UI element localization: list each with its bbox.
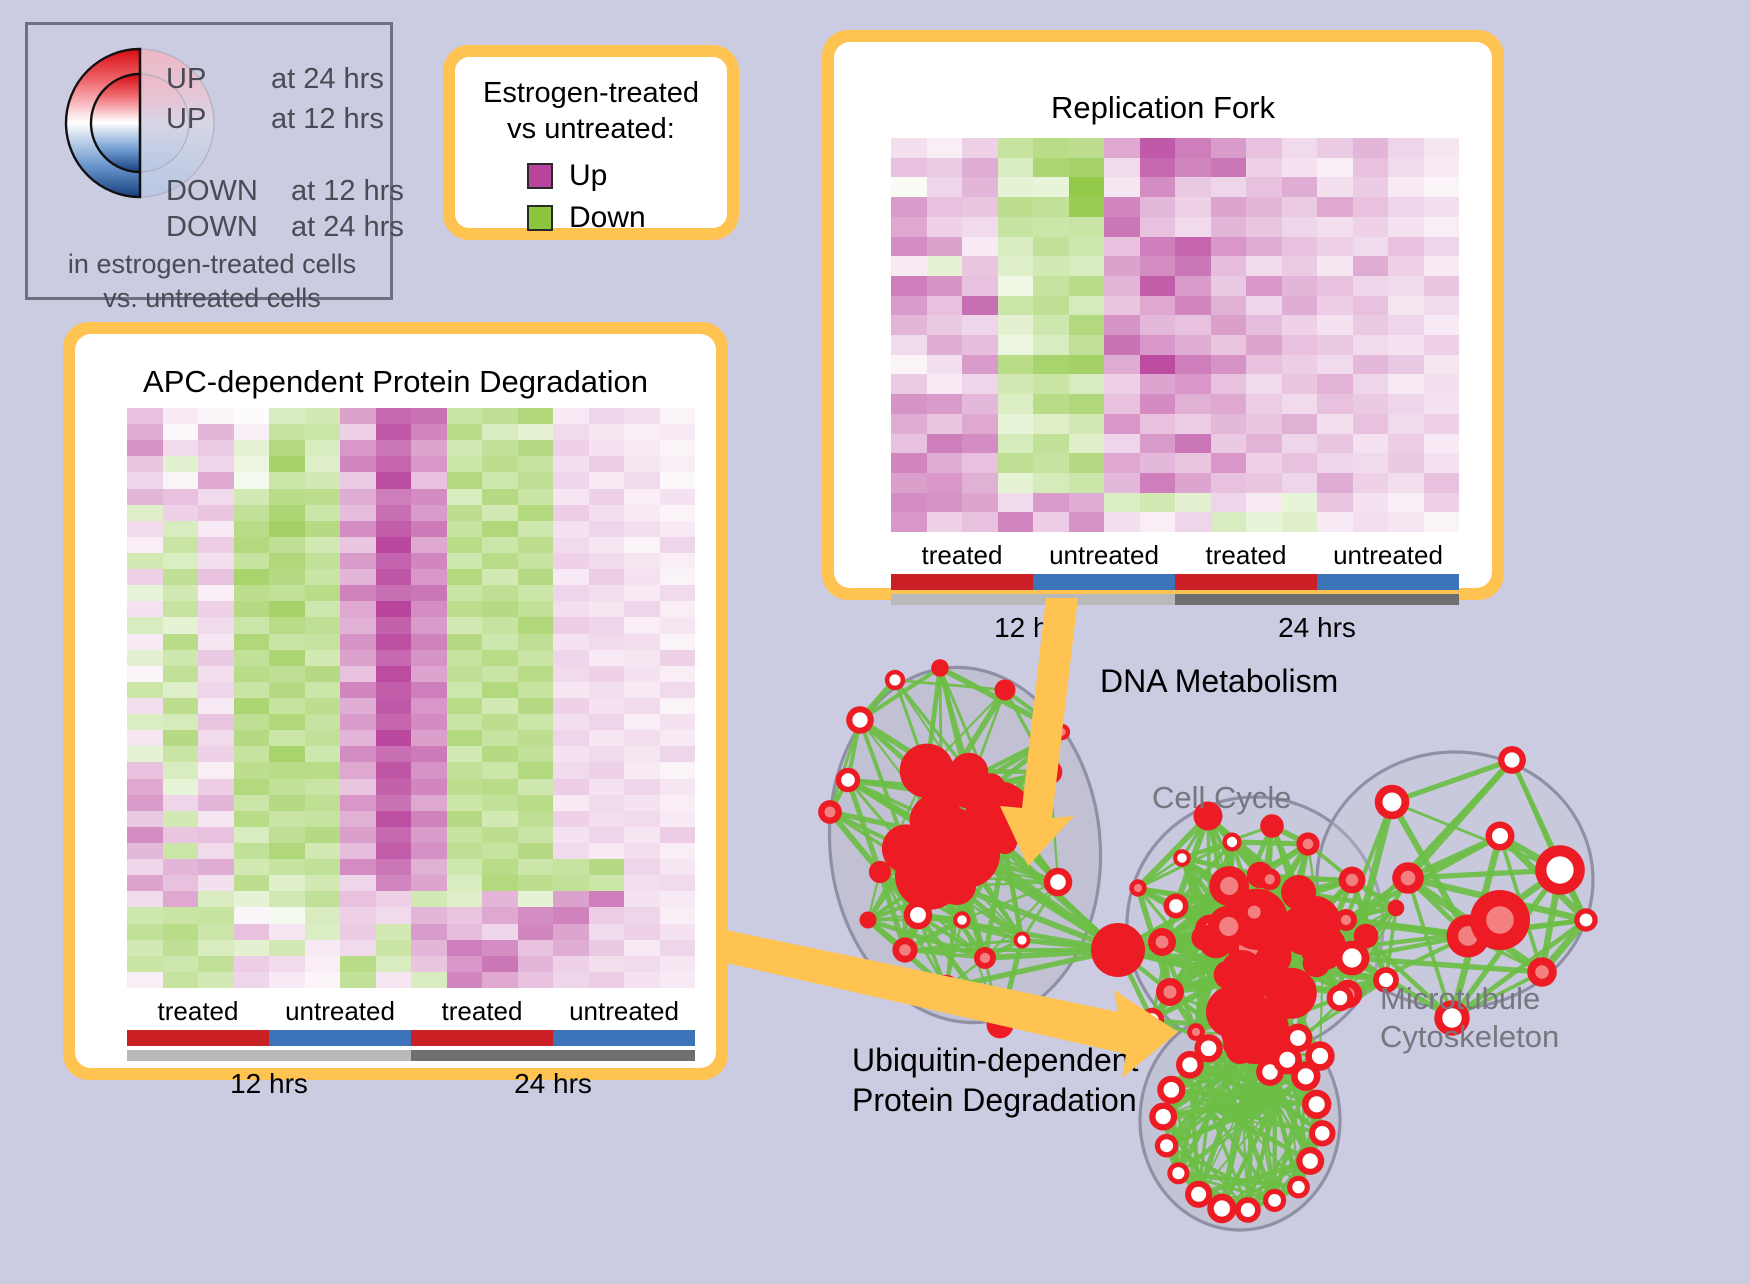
network-node[interactable]	[1287, 896, 1341, 950]
heatmap-cell	[269, 940, 305, 956]
heatmap-cell	[305, 972, 341, 988]
node-inner-fill	[1169, 899, 1183, 913]
heatmap-cell	[891, 315, 927, 335]
apc-heatmap	[127, 408, 695, 988]
heatmap-cell	[1140, 453, 1176, 473]
network-node[interactable]	[895, 841, 963, 909]
network-node[interactable]	[1038, 760, 1063, 785]
heatmap-cell	[927, 335, 963, 355]
heatmap-cell	[891, 296, 927, 316]
heatmap-cell	[998, 256, 1034, 276]
heatmap-cell	[234, 666, 270, 682]
heatmap-cell	[1388, 394, 1424, 414]
heatmap-cell	[962, 158, 998, 178]
heatmap-cell	[1175, 512, 1211, 532]
network-node[interactable]	[1156, 978, 1184, 1006]
heatmap-cell	[376, 762, 412, 778]
heatmap-cell	[482, 505, 518, 521]
node-inner-fill	[1219, 917, 1238, 936]
heatmap-cell	[1317, 217, 1353, 237]
heatmap-cell	[411, 891, 447, 907]
heatmap-cell	[589, 408, 625, 424]
condition-bar	[411, 1030, 553, 1046]
heatmap-cell	[269, 795, 305, 811]
heatmap-cell	[1069, 394, 1105, 414]
network-node[interactable]	[1164, 894, 1189, 919]
heatmap-cell	[589, 714, 625, 730]
network-node[interactable]	[1140, 1008, 1164, 1032]
heatmap-cell	[1175, 158, 1211, 178]
network-node[interactable]	[1486, 822, 1515, 851]
heatmap-cell	[198, 537, 234, 553]
heatmap-cell	[927, 493, 963, 513]
heatmap-cell	[482, 682, 518, 698]
heatmap-cell	[1140, 434, 1176, 454]
heatmap-cell	[1353, 335, 1389, 355]
heatmap-cell	[127, 505, 163, 521]
network-node[interactable]	[846, 706, 874, 734]
heatmap-cell	[1069, 237, 1105, 257]
heatmap-cell	[589, 650, 625, 666]
time-bar	[1175, 594, 1459, 605]
heatmap-cell	[340, 891, 376, 907]
heatmap-cell	[305, 440, 341, 456]
heatmap-cell	[482, 650, 518, 666]
heatmap-cell	[127, 601, 163, 617]
heatmap-cell	[962, 315, 998, 335]
heatmap-cell	[553, 682, 589, 698]
heatmap-cell	[482, 875, 518, 891]
heatmap-cell	[269, 650, 305, 666]
heatmap-cell	[234, 843, 270, 859]
heatmap-cell	[589, 907, 625, 923]
heatmap-cell	[1033, 296, 1069, 316]
network-node[interactable]	[1498, 746, 1526, 774]
time-bar	[127, 1050, 411, 1061]
heatmap-cell	[305, 795, 341, 811]
heatmap-cell	[127, 585, 163, 601]
network-node[interactable]	[1148, 928, 1176, 956]
heatmap-cell	[553, 956, 589, 972]
heatmap-cell	[962, 414, 998, 434]
heatmap-cell	[891, 414, 927, 434]
heatmap-cell	[1069, 158, 1105, 178]
heatmap-cell	[198, 746, 234, 762]
heatmap-cell	[624, 972, 660, 988]
heatmap-cell	[1246, 197, 1282, 217]
heatmap-cell	[305, 924, 341, 940]
heatmap-cell	[198, 779, 234, 795]
heatmap-cell	[1211, 414, 1247, 434]
network-node[interactable]	[1327, 985, 1354, 1012]
network-node[interactable]	[892, 937, 917, 962]
heatmap-cell	[1388, 217, 1424, 237]
heatmap-cell	[482, 940, 518, 956]
network-node[interactable]	[860, 912, 877, 929]
colorwheel-row-2-time: at 12 hrs	[291, 175, 404, 208]
heatmap-cell	[660, 505, 696, 521]
node-inner-fill	[1182, 1057, 1197, 1072]
network-node[interactable]	[1044, 868, 1073, 897]
heatmap-cell	[998, 315, 1034, 335]
heatmap-cell	[1424, 158, 1460, 178]
heatmap-cell	[518, 424, 554, 440]
heatmap-cell	[163, 666, 199, 682]
heatmap-cell	[234, 907, 270, 923]
node-inner-fill	[1164, 986, 1177, 999]
heatmap-cell	[624, 489, 660, 505]
heatmap-cell	[660, 907, 696, 923]
network-node[interactable]	[967, 784, 1024, 841]
heatmap-cell	[340, 859, 376, 875]
heatmap-cell	[1033, 493, 1069, 513]
heatmap-cell	[376, 505, 412, 521]
heatmap-cell	[1140, 512, 1176, 532]
heatmap-cell	[411, 408, 447, 424]
heatmap-cell	[518, 505, 554, 521]
heatmap-cell	[962, 237, 998, 257]
network-node[interactable]	[1335, 941, 1370, 976]
node-inner-fill	[1315, 1126, 1330, 1141]
heatmap-cell	[447, 424, 483, 440]
network-node[interactable]	[1535, 845, 1585, 895]
heatmap-cell	[482, 746, 518, 762]
heatmap-cell	[376, 811, 412, 827]
colorwheel-row-1-direction: UP	[166, 103, 206, 136]
network-node[interactable]	[1235, 1197, 1261, 1223]
heatmap-cell	[1033, 394, 1069, 414]
network-node[interactable]	[1167, 1162, 1189, 1184]
network-node[interactable]	[1214, 961, 1242, 989]
heatmap-cell	[1175, 256, 1211, 276]
heatmap-cell	[447, 682, 483, 698]
heatmap-cell	[376, 795, 412, 811]
heatmap-cell	[891, 217, 927, 237]
heatmap-cell	[447, 956, 483, 972]
colorwheel-row-3-time: at 24 hrs	[291, 211, 404, 244]
node-inner-fill	[1241, 1203, 1255, 1217]
heatmap-cell	[340, 795, 376, 811]
heatmap-cell	[624, 424, 660, 440]
network-node[interactable]	[836, 768, 861, 793]
network-node[interactable]	[995, 680, 1016, 701]
heatmap-cell	[1104, 355, 1140, 375]
heatmap-cell	[1104, 453, 1140, 473]
network-node[interactable]	[900, 744, 954, 798]
heatmap-cell	[1388, 177, 1424, 197]
heatmap-cell	[1033, 473, 1069, 493]
network-node[interactable]	[1339, 867, 1366, 894]
heatmap-cell	[234, 537, 270, 553]
network-node[interactable]	[1194, 1034, 1222, 1062]
heatmap-cell	[518, 843, 554, 859]
heatmap-cell	[624, 843, 660, 859]
heatmap-cell	[376, 779, 412, 795]
heatmap-cell	[1353, 138, 1389, 158]
heatmap-cell	[553, 601, 589, 617]
heatmap-cell	[127, 714, 163, 730]
node-inner-fill	[1312, 1048, 1328, 1064]
heatmap-cell	[1069, 493, 1105, 513]
heatmap-cell	[1104, 256, 1140, 276]
heatmap-cell	[1069, 374, 1105, 394]
heatmap-cell	[198, 875, 234, 891]
heatmap-cell	[234, 859, 270, 875]
heatmap-cell	[1246, 473, 1282, 493]
heatmap-cell	[624, 569, 660, 585]
network-node[interactable]	[1223, 833, 1242, 852]
heatmap-cell	[411, 682, 447, 698]
time-label: 12 hrs	[127, 1068, 411, 1100]
heatmap-cell	[998, 158, 1034, 178]
heatmap-cell	[340, 811, 376, 827]
network-node[interactable]	[1208, 906, 1250, 948]
heatmap-cell	[482, 714, 518, 730]
heatmap-cell	[553, 617, 589, 633]
network-node[interactable]	[1296, 1147, 1324, 1175]
heatmap-cell	[1175, 335, 1211, 355]
heatmap-cell	[376, 682, 412, 698]
node-inner-fill	[1058, 728, 1065, 735]
heatmap-cell	[305, 521, 341, 537]
network-node[interactable]	[933, 975, 960, 1002]
network-node[interactable]	[1388, 900, 1405, 917]
heatmap-cell	[1353, 197, 1389, 217]
network-node[interactable]	[869, 861, 891, 883]
node-outer-ring	[869, 861, 891, 883]
heatmap-cell	[234, 617, 270, 633]
condition-bar	[1033, 574, 1175, 590]
heatmap-cell	[1211, 315, 1247, 335]
heatmap-cell	[1353, 315, 1389, 335]
heatmap-cell	[589, 505, 625, 521]
network-node[interactable]	[1054, 724, 1070, 740]
heatmap-cell	[163, 843, 199, 859]
heatmap-cell	[163, 779, 199, 795]
network-node[interactable]	[885, 670, 905, 690]
network-node[interactable]	[974, 947, 996, 969]
network-node[interactable]	[953, 911, 970, 928]
heatmap-cell	[927, 374, 963, 394]
heatmap-cell	[376, 489, 412, 505]
network-node[interactable]	[1309, 1120, 1335, 1146]
heatmap-cell	[518, 956, 554, 972]
heatmap-cell	[1353, 493, 1389, 513]
heatmap-cell	[1424, 394, 1460, 414]
heatmap-cell	[163, 956, 199, 972]
heatmap-cell	[1246, 237, 1282, 257]
heatmap-cell	[891, 197, 927, 217]
heatmap-cell	[411, 553, 447, 569]
network-node[interactable]	[1263, 1189, 1286, 1212]
network-node[interactable]	[1173, 849, 1191, 867]
network-node[interactable]	[1574, 908, 1597, 931]
heatmap-cell	[376, 843, 412, 859]
heatmap-cell	[998, 217, 1034, 237]
heatmap-cell	[1033, 217, 1069, 237]
heatmap-cell	[553, 585, 589, 601]
heatmap-cell	[1246, 434, 1282, 454]
heatmap-cell	[589, 634, 625, 650]
heatmap-cell	[1104, 276, 1140, 296]
network-node[interactable]	[1296, 832, 1319, 855]
heatmap-cell	[1211, 394, 1247, 414]
network-node[interactable]	[1157, 1076, 1185, 1104]
heatmap-cell	[1246, 276, 1282, 296]
heatmap-cell	[1211, 138, 1247, 158]
heatmap-cell	[1246, 394, 1282, 414]
heatmap-cell	[553, 891, 589, 907]
heatmap-cell	[269, 634, 305, 650]
heatmap-cell	[340, 456, 376, 472]
replication-fork-time-bars	[891, 594, 1459, 605]
heatmap-cell	[269, 956, 305, 972]
condition-label: treated	[411, 996, 553, 1027]
heatmap-cell	[962, 138, 998, 158]
heatmap-cell	[1069, 276, 1105, 296]
heatmap-cell	[198, 714, 234, 730]
heatmap-cell	[1069, 453, 1105, 473]
heatmap-cell	[234, 972, 270, 988]
heatmap-cell	[553, 456, 589, 472]
network-node[interactable]	[1091, 923, 1145, 977]
heatmap-cell	[1140, 315, 1176, 335]
node-inner-fill	[1145, 1013, 1158, 1026]
heatmap-cell	[127, 730, 163, 746]
network-diagram	[800, 620, 1750, 1279]
heatmap-cell	[411, 843, 447, 859]
node-inner-fill	[1214, 1200, 1230, 1216]
heatmap-cell	[624, 730, 660, 746]
heatmap-cell	[340, 472, 376, 488]
heatmap-cell	[518, 489, 554, 505]
heatmap-cell	[198, 924, 234, 940]
heatmap-cell	[1317, 197, 1353, 217]
heatmap-cell	[624, 505, 660, 521]
heatmap-legend-title-line1: Estrogen-treated	[455, 75, 727, 111]
heatmap-cell	[482, 456, 518, 472]
heatmap-cell	[127, 795, 163, 811]
network-node[interactable]	[1129, 879, 1146, 896]
node-inner-fill	[841, 773, 855, 787]
heatmap-cell	[553, 907, 589, 923]
heatmap-cell	[1353, 177, 1389, 197]
heatmap-cell	[1069, 335, 1105, 355]
network-node[interactable]	[1302, 1090, 1331, 1119]
heatmap-cell	[1211, 197, 1247, 217]
heatmap-cell	[553, 698, 589, 714]
heatmap-cell	[660, 537, 696, 553]
network-node[interactable]	[1149, 1103, 1177, 1131]
network-node[interactable]	[1291, 1062, 1320, 1091]
heatmap-cell	[589, 666, 625, 682]
heatmap-cell	[376, 698, 412, 714]
heatmap-cell	[1211, 158, 1247, 178]
condition-label: untreated	[553, 996, 695, 1027]
heatmap-cell	[624, 795, 660, 811]
network-node[interactable]	[1259, 868, 1281, 890]
node-inner-fill	[1050, 874, 1066, 890]
network-node[interactable]	[1375, 785, 1410, 820]
heatmap-cell	[998, 493, 1034, 513]
network-node[interactable]	[950, 753, 989, 792]
heatmap-cell	[127, 698, 163, 714]
heatmap-cell	[163, 811, 199, 827]
heatmap-cell	[447, 859, 483, 875]
heatmap-cell	[234, 956, 270, 972]
network-node[interactable]	[1014, 932, 1031, 949]
node-inner-fill	[852, 712, 867, 727]
node-outer-ring	[993, 830, 1017, 854]
heatmap-cell	[127, 521, 163, 537]
heatmap-cell	[589, 875, 625, 891]
heatmap-cell	[553, 650, 589, 666]
heatmap-cell	[482, 521, 518, 537]
network-node[interactable]	[993, 830, 1017, 854]
heatmap-cell	[1104, 237, 1140, 257]
heatmap-cell	[305, 956, 341, 972]
node-inner-fill	[1017, 935, 1026, 944]
heatmap-cell	[411, 601, 447, 617]
node-inner-fill	[980, 953, 990, 963]
heatmap-cell	[127, 907, 163, 923]
network-node[interactable]	[904, 901, 933, 930]
network-node[interactable]	[1260, 814, 1284, 838]
heatmap-cell	[660, 891, 696, 907]
heatmap-cell	[482, 408, 518, 424]
network-node[interactable]	[1335, 909, 1357, 931]
network-node[interactable]	[1470, 890, 1530, 950]
node-inner-fill	[1191, 1187, 1206, 1202]
heatmap-cell	[1211, 177, 1247, 197]
heatmap-cell	[305, 940, 341, 956]
network-node[interactable]	[1155, 1134, 1179, 1158]
node-inner-fill	[1346, 874, 1358, 886]
heatmap-cell	[482, 795, 518, 811]
heatmap-cell	[927, 473, 963, 493]
heatmap-cell	[198, 521, 234, 537]
heatmap-cell	[589, 569, 625, 585]
heatmap-cell	[234, 811, 270, 827]
heatmap-cell	[447, 779, 483, 795]
heatmap-cell	[340, 746, 376, 762]
heatmap-cell	[127, 891, 163, 907]
heatmap-cell	[340, 634, 376, 650]
heatmap-legend-panel: Estrogen-treated vs untreated: Up Down	[443, 45, 739, 240]
heatmap-cell	[1104, 414, 1140, 434]
network-node[interactable]	[1287, 1176, 1310, 1199]
network-node[interactable]	[1206, 986, 1258, 1038]
heatmap-cell	[891, 374, 927, 394]
network-node[interactable]	[931, 659, 949, 677]
network-node[interactable]	[818, 800, 842, 824]
heatmap-cell	[589, 940, 625, 956]
heatmap-cell	[1388, 237, 1424, 257]
heatmap-cell	[163, 746, 199, 762]
heatmap-cell	[198, 827, 234, 843]
network-node[interactable]	[987, 1012, 1014, 1039]
heatmap-cell	[411, 634, 447, 650]
network-node[interactable]	[1392, 862, 1424, 894]
heatmap-cell	[518, 762, 554, 778]
heatmap-cell	[1388, 493, 1424, 513]
network-node[interactable]	[1185, 1181, 1212, 1208]
heatmap-cell	[553, 489, 589, 505]
heatmap-cell	[163, 505, 199, 521]
heatmap-cell	[198, 730, 234, 746]
heatmap-cell	[1282, 374, 1318, 394]
heatmap-cell	[1282, 493, 1318, 513]
